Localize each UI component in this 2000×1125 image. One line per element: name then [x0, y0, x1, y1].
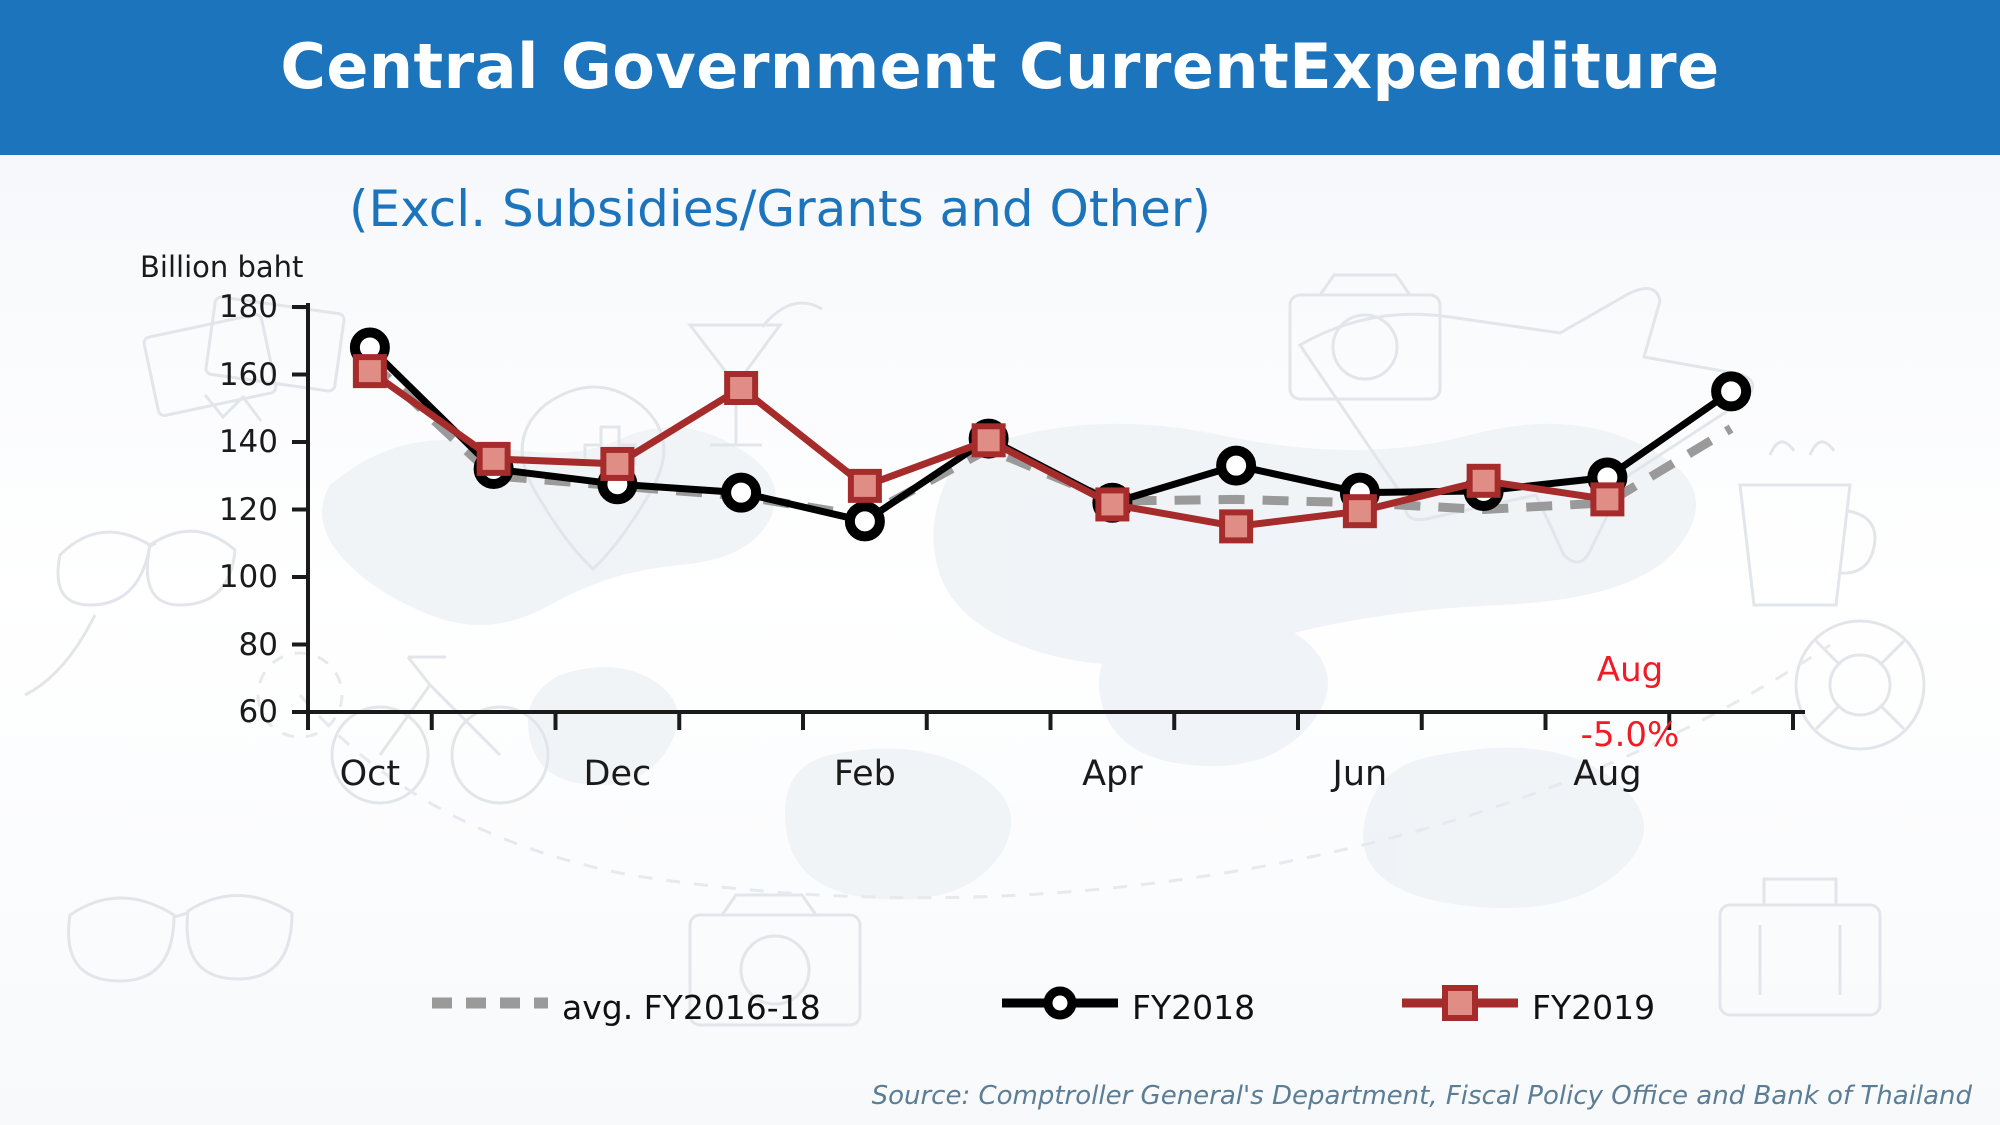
legend-item-fy2019[interactable]: FY2019 — [1400, 983, 1655, 1031]
chart-slide: Central Government CurrentExpenditure — [0, 0, 2000, 1125]
legend-label: FY2018 — [1132, 991, 1255, 1024]
data-point-marker — [1470, 467, 1498, 495]
data-point-marker — [603, 450, 631, 478]
annotation-month: Aug — [1597, 650, 1663, 690]
y-axis-tick-label: 100 — [168, 559, 278, 595]
series-line-fy2018 — [370, 348, 1731, 522]
data-point-marker — [480, 445, 508, 473]
page-title: Central Government CurrentExpenditure — [0, 30, 2000, 103]
y-axis-tick-label: 180 — [168, 289, 278, 325]
data-point-marker — [1221, 451, 1251, 481]
legend-swatch-icon — [1400, 983, 1520, 1031]
legend-item-avg-fy2016-18[interactable]: avg. FY2016-18 — [430, 983, 821, 1031]
chart-body: (Excl. Subsidies/Grants and Other) Billi… — [0, 155, 2000, 1125]
data-point-marker — [1222, 512, 1250, 540]
x-axis-tick-label: Aug — [1527, 754, 1687, 794]
data-point-marker — [1346, 497, 1374, 525]
y-axis-tick-label: 140 — [168, 424, 278, 460]
data-point-marker — [1593, 485, 1621, 513]
x-axis-tick-label: Apr — [1032, 754, 1192, 794]
legend-label: FY2019 — [1532, 991, 1655, 1024]
y-axis-tick-label: 80 — [168, 627, 278, 663]
source-note: Source: Comptroller General's Department… — [872, 1081, 1972, 1111]
legend-swatch-icon — [430, 983, 550, 1031]
annotation-growth: -5.0% — [1581, 715, 1680, 755]
legend-label: avg. FY2016-18 — [562, 991, 821, 1024]
line-chart-plot — [0, 155, 2000, 1125]
x-axis-tick-label: Dec — [537, 754, 697, 794]
y-axis-tick-label: 160 — [168, 357, 278, 393]
y-axis-tick-label: 60 — [168, 694, 278, 730]
data-point-marker — [851, 472, 879, 500]
data-point-marker — [1716, 376, 1746, 406]
data-point-marker — [727, 374, 755, 402]
legend-swatch-icon — [1000, 983, 1120, 1031]
x-axis-tick-label: Jun — [1280, 754, 1440, 794]
x-axis-tick-label: Oct — [290, 754, 450, 794]
legend-item-fy2018[interactable]: FY2018 — [1000, 983, 1255, 1031]
y-axis-tick-label: 120 — [168, 492, 278, 528]
x-axis-tick-label: Feb — [785, 754, 945, 794]
data-point-marker — [1098, 490, 1126, 518]
series-line-avg-fy2016-18 — [370, 361, 1731, 516]
data-point-marker — [726, 478, 756, 508]
data-point-marker — [850, 506, 880, 536]
title-banner: Central Government CurrentExpenditure — [0, 0, 2000, 155]
data-point-marker — [356, 357, 384, 385]
data-point-marker — [975, 426, 1003, 454]
